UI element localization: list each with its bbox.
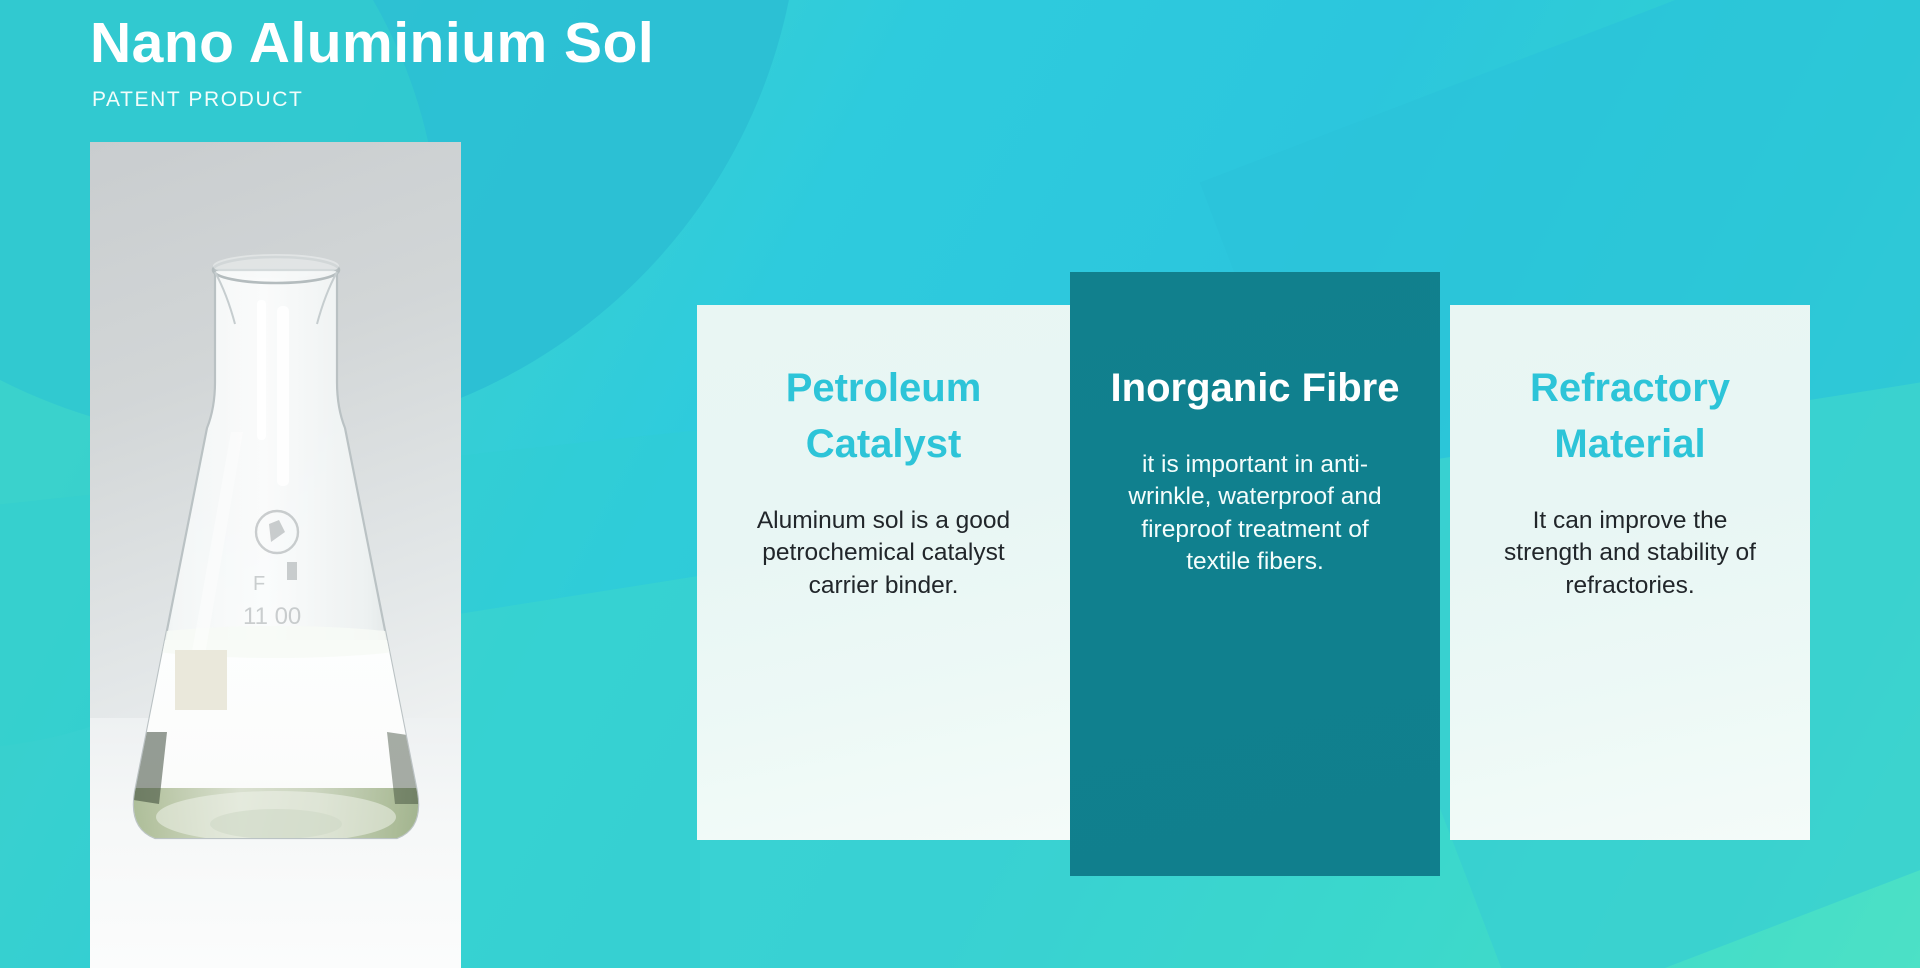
feature-card-title: Petroleum Catalyst xyxy=(697,305,1070,472)
slide-header: Nano Aluminium Sol PATENT PRODUCT xyxy=(90,12,654,112)
feature-card-body: it is important in anti-wrinkle, waterpr… xyxy=(1070,416,1440,578)
slide-root: Nano Aluminium Sol PATENT PRODUCT xyxy=(0,0,1920,968)
feature-card-petroleum-catalyst[interactable]: Petroleum Catalyst Aluminum sol is a goo… xyxy=(697,305,1070,840)
feature-card-body: Aluminum sol is a good petrochemical cat… xyxy=(697,472,1070,602)
feature-card-inorganic-fibre[interactable]: Inorganic Fibre it is important in anti-… xyxy=(1070,272,1440,876)
feature-card-title: Refractory Material xyxy=(1450,305,1810,472)
page-title: Nano Aluminium Sol xyxy=(90,12,654,76)
feature-card-title: Inorganic Fibre xyxy=(1070,272,1440,416)
feature-card-refractory-material[interactable]: Refractory Material It can improve the s… xyxy=(1450,305,1810,840)
feature-card-body: It can improve the strength and stabilit… xyxy=(1450,472,1810,602)
svg-text:11 00: 11 00 xyxy=(243,603,301,630)
erlenmeyer-flask-icon: F 11 00 xyxy=(111,232,441,892)
page-subtitle: PATENT PRODUCT xyxy=(92,88,654,112)
svg-text:F: F xyxy=(253,573,265,595)
product-photo: F 11 00 xyxy=(90,142,461,968)
